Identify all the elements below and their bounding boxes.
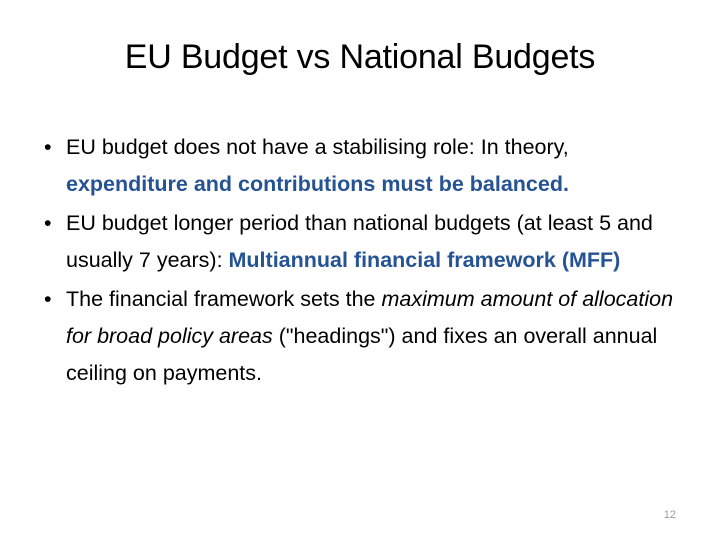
bullet-list: • EU budget does not have a stabilising … — [36, 129, 684, 394]
text-run-plain: The financial framework sets the — [66, 287, 381, 311]
page-title: EU Budget vs National Budgets — [36, 36, 684, 78]
text-run-emphasis: expenditure and contributions must be ba… — [66, 172, 569, 196]
slide-canvas: EU Budget vs National Budgets • EU budge… — [0, 0, 720, 540]
list-item-text: EU budget does not have a stabilising ro… — [66, 129, 684, 203]
list-item-text: EU budget longer period than national bu… — [66, 205, 684, 279]
slide-page-number: 12 — [664, 509, 676, 522]
list-item-text: The financial framework sets the maximum… — [66, 281, 684, 392]
text-run-plain: EU budget does not have a stabilising ro… — [66, 135, 569, 159]
bullet-point-icon: • — [44, 129, 58, 166]
bullet-point-icon: • — [44, 281, 58, 318]
text-run-emphasis: Multiannual financial framework (MFF) — [229, 248, 621, 272]
list-item: • EU budget does not have a stabilising … — [36, 129, 684, 203]
list-item: • The financial framework sets the maxim… — [36, 281, 684, 392]
bullet-point-icon: • — [44, 205, 58, 242]
list-item: • EU budget longer period than national … — [36, 205, 684, 279]
